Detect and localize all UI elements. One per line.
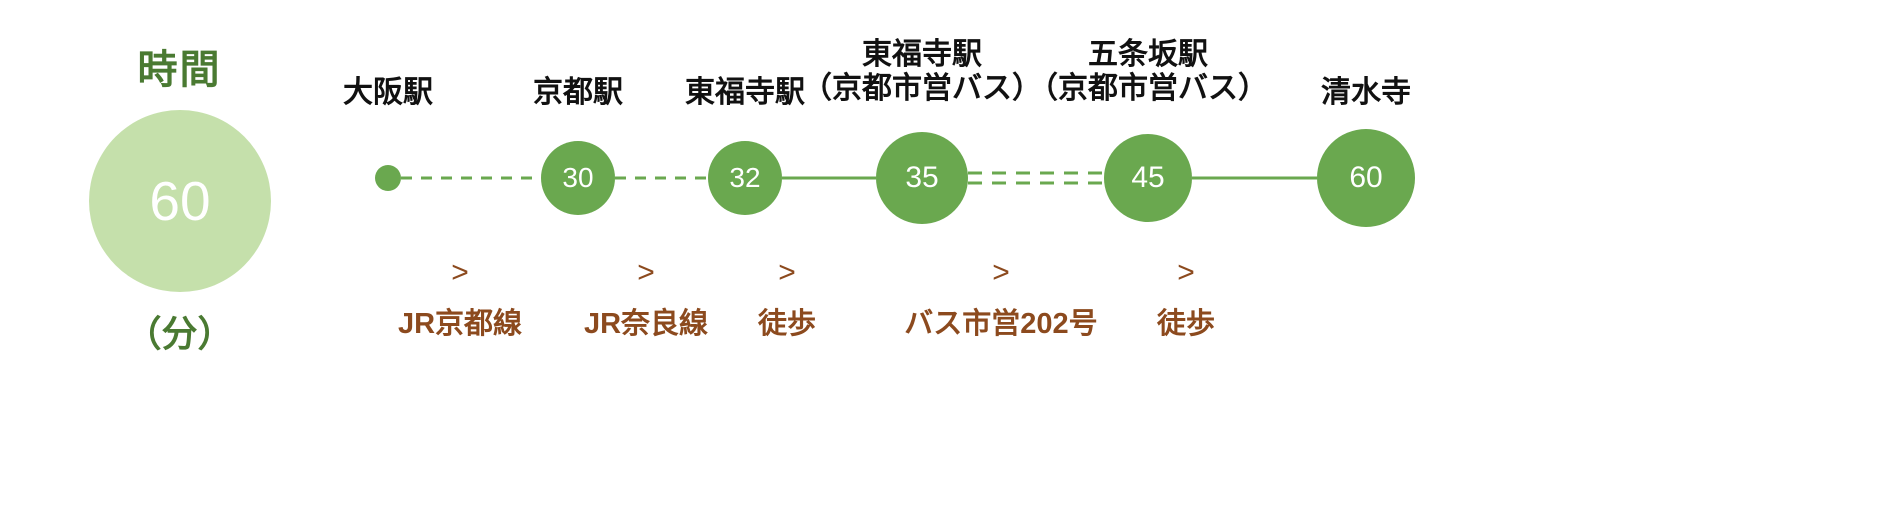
route-node[interactable]: 32 [708,141,782,215]
station-label-line1: 五条坂駅 [1088,38,1208,71]
route-timeline: 大阪駅30京都駅32東福寺駅35東福寺駅（京都市営バス）45五条坂駅（京都市営バ… [0,0,1904,508]
route-node-minutes: 35 [905,163,938,193]
station-label-line1: 東福寺駅 [862,38,982,71]
route-node[interactable]: 45 [1104,134,1192,222]
route-node-minutes: 60 [1349,163,1382,193]
route-node-minutes: 32 [729,164,760,192]
station-label: 清水寺 [1196,76,1536,110]
route-node[interactable]: 35 [876,132,968,224]
route-node-minutes: 45 [1131,163,1164,193]
route-node-start[interactable] [375,165,401,191]
route-node[interactable]: 30 [541,141,615,215]
transport-mode[interactable]: >徒歩 [1036,258,1336,339]
route-node[interactable]: 60 [1317,129,1415,227]
transport-mode-label: 徒歩 [1036,310,1336,339]
station-label-line1: 清水寺 [1321,76,1411,109]
infographic-root: 時間 60 （分） 大阪駅30京都駅32東福寺駅35東福寺駅（京都市営バス）45… [0,0,1904,508]
route-node-minutes: 30 [562,164,593,192]
chevron-right-icon: > [1036,258,1336,288]
